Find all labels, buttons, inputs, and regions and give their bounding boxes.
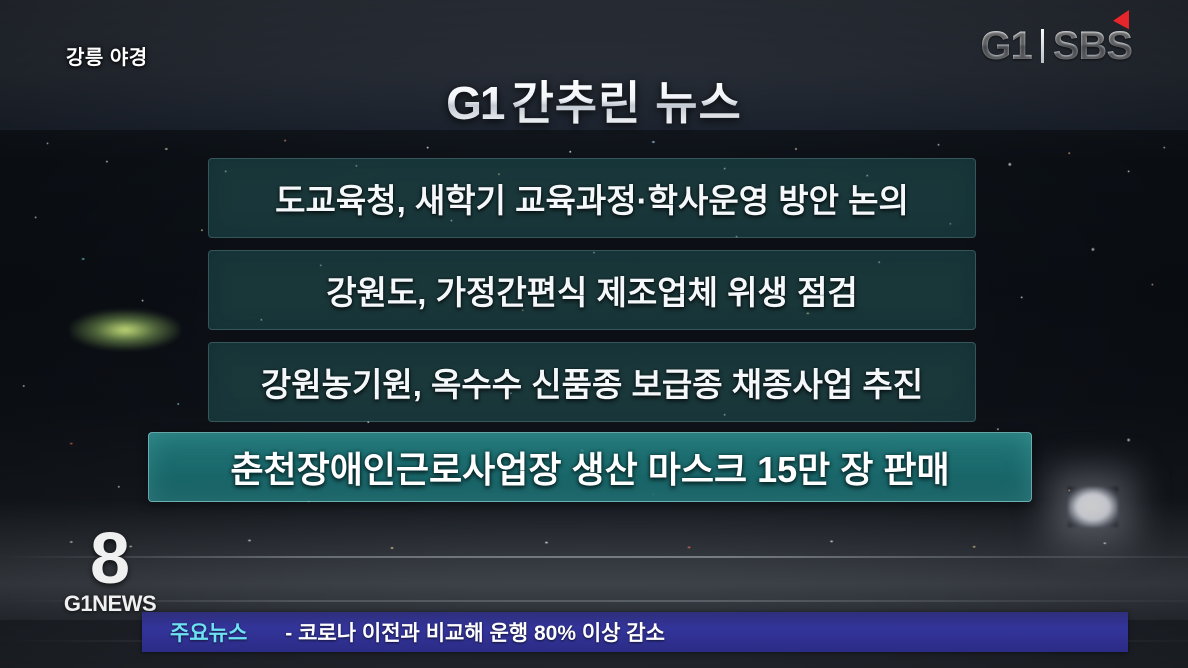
channel-logo: G1 SBS [980, 22, 1132, 70]
ticker-category-label: 주요뉴스 [170, 617, 247, 647]
road-lane-line [0, 600, 1188, 602]
news-ticker: 주요뉴스 - 코로나 이전과 비교해 운행 80% 이상 감소 [142, 612, 1128, 652]
page-title: G1간추린 뉴스 [0, 78, 1188, 129]
billboard-light [1068, 487, 1118, 527]
headline-text-3: 강원농기원, 옥수수 신품종 보급종 채종사업 추진 [261, 358, 923, 406]
headline-text-4: 춘천장애인근로사업장 생산 마스크 15만 장 판매 [230, 441, 949, 493]
broadcast-screen: 강릉 야경 G1 SBS G1간추린 뉴스 도교육청, 새학기 교육과정·학사운… [0, 0, 1188, 668]
location-label: 강릉 야경 [66, 41, 148, 70]
headline-text-2: 강원도, 가정간편식 제조업체 위생 점검 [326, 266, 858, 314]
highway-glow [0, 500, 1188, 620]
stadium-light-glow [70, 310, 180, 350]
headline-bar-4-active[interactable]: 춘천장애인근로사업장 생산 마스크 15만 장 판매 [148, 432, 1032, 502]
headline-bar-1[interactable]: 도교육청, 새학기 교육과정·학사운영 방안 논의 [208, 158, 976, 238]
g1-logo-text: G1 [980, 26, 1031, 66]
logo-divider-icon [1041, 29, 1044, 63]
headline-text-1: 도교육청, 새학기 교육과정·학사운영 방안 논의 [275, 174, 909, 222]
sbs-logo-text: SBS [1053, 26, 1132, 66]
title-text: 간추린 뉴스 [511, 77, 741, 129]
headline-bar-2[interactable]: 강원도, 가정간편식 제조업체 위생 점검 [208, 250, 976, 330]
ticker-headline-text: - 코로나 이전과 비교해 운행 80% 이상 감소 [285, 617, 665, 647]
road-lane-line [0, 556, 1188, 558]
title-brand: G1 [446, 77, 503, 129]
headline-bar-3[interactable]: 강원농기원, 옥수수 신품종 보급종 채종사업 추진 [208, 342, 976, 422]
